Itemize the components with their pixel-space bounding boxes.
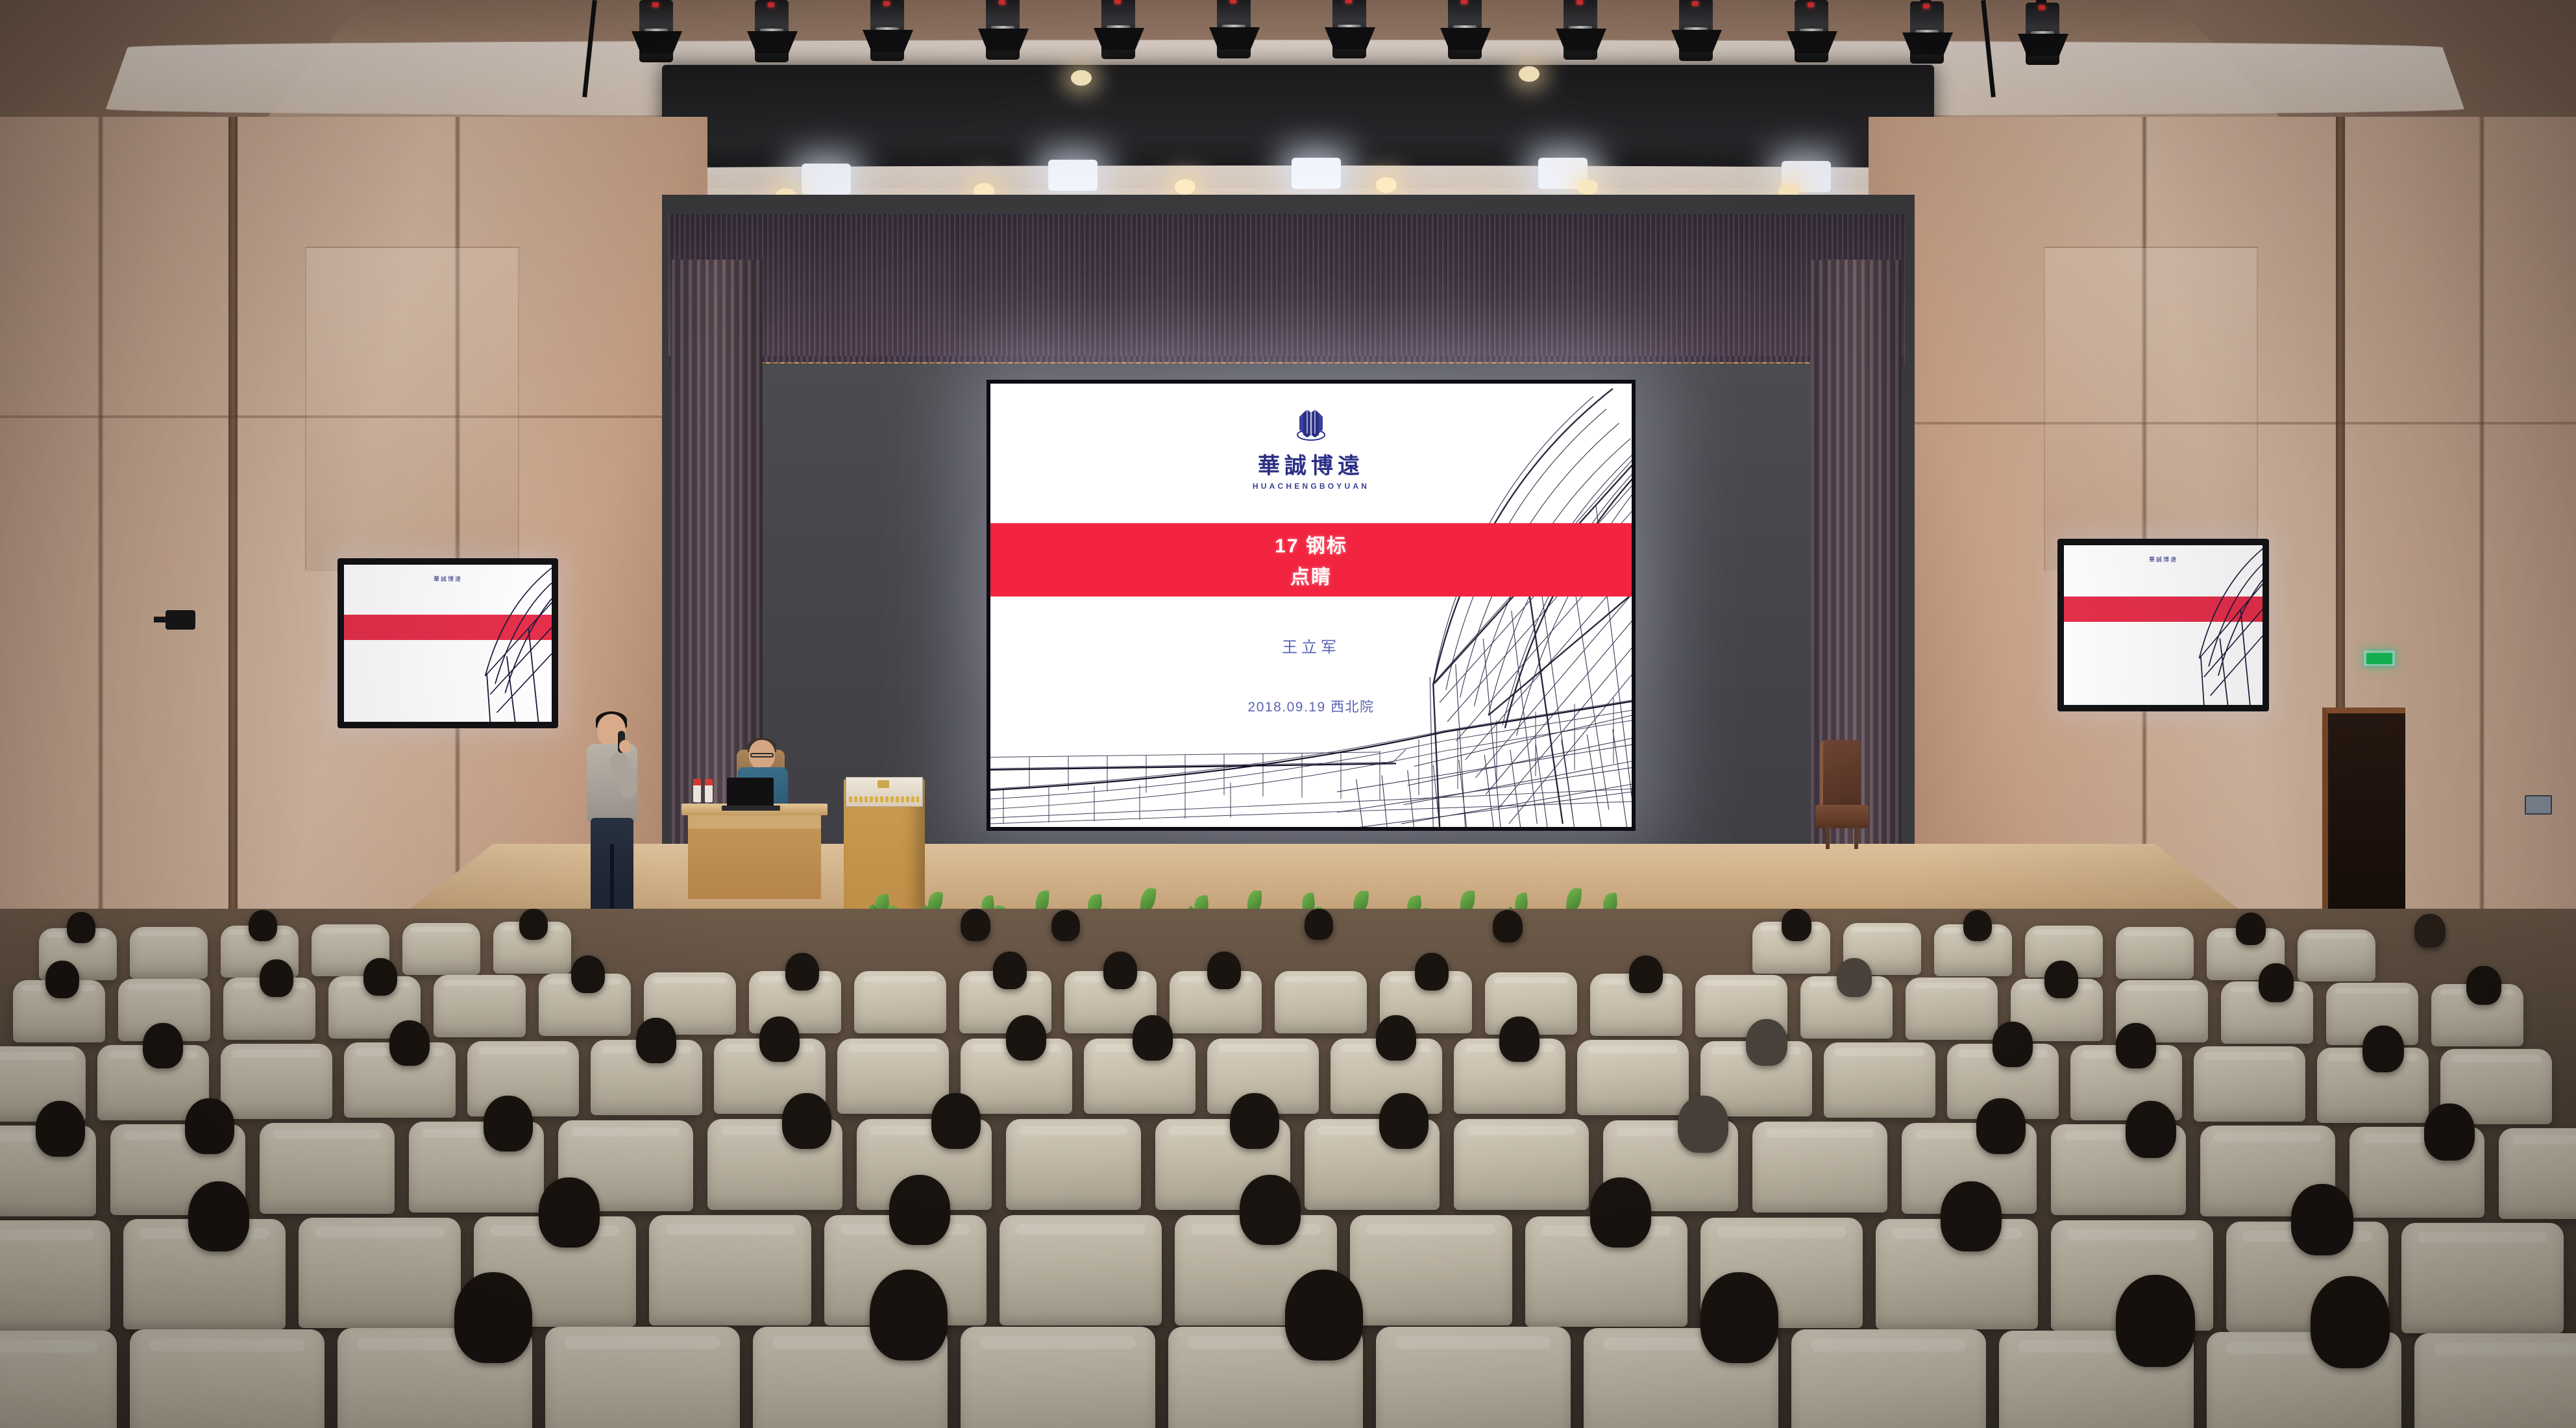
wall-mounted-camera [166,610,195,630]
stage-spotlight [1679,0,1713,61]
audience-head [993,952,1027,989]
stage-spotlight [870,0,904,61]
audience-head [1963,910,1992,941]
side-monitor-right[interactable]: 華誠博遠 [2057,539,2269,711]
spotlight-led-icon [768,3,774,7]
spotlight-lens [2031,31,2054,36]
audience-seat[interactable] [260,1123,395,1214]
glasses-icon [750,753,774,757]
slide-author: 王立军 [990,634,1632,657]
armchair-seat [1815,805,1869,828]
audience-head [636,1018,676,1063]
audience-head [2291,1184,2353,1255]
water-bottle[interactable] [705,779,713,802]
audience-head [2362,1026,2404,1072]
spotlight-lens [1453,25,1477,31]
stage-spotlight [1101,0,1135,59]
audience-head [2311,1276,2390,1368]
audience-head [539,1177,600,1248]
audience-head [1590,1177,1651,1248]
ceiling-downlight [1175,179,1196,195]
stage-spotlight [986,0,1020,60]
ceiling-downlight [1519,66,1539,82]
audience-head [45,961,79,998]
audience-head [2126,1101,2176,1158]
side-monitor-left[interactable]: 華誠博遠 [337,558,558,728]
ceiling-panel-light [1292,158,1341,189]
audience-seat[interactable] [1577,1040,1689,1115]
audience-head [2259,963,2294,1002]
laptop-base [722,806,780,811]
audience-head [889,1175,950,1245]
slide-date-venue: 2018.09.19 西北院 [990,696,1632,716]
audience-seat[interactable] [2298,929,2375,981]
audience-head [1499,1016,1539,1062]
stage-spotlight [1910,1,1944,64]
audience-head [1837,958,1872,997]
audience-head [571,955,605,993]
ceiling-panel-light [1048,160,1098,191]
audience-head [1782,909,1811,941]
audience-seat[interactable] [2116,927,2194,979]
ceiling-downlight [1376,177,1397,193]
audience-head [454,1272,532,1363]
spotlight-led-icon [883,1,890,6]
audience-seat[interactable] [1824,1042,1935,1118]
audience-seat[interactable] [221,1044,332,1119]
stage-spotlight [2026,3,2059,65]
audience-head [185,1098,234,1154]
audience-seat[interactable] [1906,978,1998,1040]
audience-head [931,1093,981,1149]
spotlight-lens [991,26,1014,31]
main-led-screen[interactable]: 華誠博遠 HUACHENGBOYUAN 17 钢标 点睛 王立军 2018.09… [987,380,1636,831]
audience-seat[interactable] [130,927,208,979]
audience-seat[interactable] [1454,1119,1589,1210]
wall-acoustic-panel [305,247,519,571]
auditorium-scene: 華誠博遠 HUACHENGBOYUAN 17 钢标 点睛 王立军 2018.09… [0,0,2576,1428]
audience-head [870,1270,948,1360]
slide-logo-block: 華誠博遠 HUACHENGBOYUAN [990,404,1632,491]
audience-head [1746,1019,1787,1066]
audience-seat[interactable] [0,1220,110,1331]
spotlight-led-icon [1345,0,1352,3]
spotlight-lens [876,27,899,32]
armchair-leg [1854,826,1858,849]
audience-seat[interactable] [434,975,526,1037]
audience-head [188,1181,249,1251]
room-placard [2525,795,2552,815]
audience-head [961,909,990,941]
audience-seat[interactable] [2194,1046,2305,1122]
audience-head [2116,1023,2156,1068]
audience-head [2414,914,2446,948]
audience-head [143,1023,183,1068]
slide-title-line1: 17 钢标 [1275,530,1347,558]
audience-seat[interactable] [1350,1215,1512,1325]
stage-spotlight [1217,0,1251,58]
spotlight-led-icon [1461,0,1467,4]
audience-head [1240,1175,1301,1245]
audience-head [1700,1272,1778,1363]
logo-chinese-name: 華誠博遠 [1258,448,1364,480]
audience-head [782,1093,831,1149]
stage-armchair[interactable] [1814,740,1871,847]
audience-head [36,1101,85,1157]
spotlight-lens [1569,26,1592,31]
ceiling-downlight [1577,179,1598,195]
audience-head [1285,1270,1363,1360]
stage-spotlight [1332,0,1366,58]
audience-seat[interactable] [299,1218,461,1328]
audience-head [1230,1093,1279,1149]
emergency-exit-sign [2362,649,2396,667]
side-monitor-right-art [2183,545,2263,705]
audience-head [2466,966,2501,1005]
audience-head [2044,961,2078,998]
spotlight-led-icon [999,0,1005,5]
spotlight-led-icon [2039,5,2045,10]
logo-pinyin-name: HUACHENGBOYUAN [1253,482,1369,491]
audience-seat[interactable] [1376,1327,1571,1428]
ceiling-downlight [1071,70,1092,86]
presentation-slide: 華誠博遠 HUACHENGBOYUAN 17 钢标 点睛 王立军 2018.09… [990,384,1632,827]
spotlight-led-icon [1576,0,1583,5]
audience-head [260,959,293,997]
audience-head [1305,909,1333,940]
armchair-back [1821,740,1861,813]
audience-seat[interactable] [2401,1223,2564,1333]
audience-head [2424,1103,2475,1161]
audience-head [249,910,277,941]
spotlight-lens [760,29,783,34]
spotlight-led-icon [1923,4,1930,8]
audience-head [1133,1015,1173,1061]
audience-seat[interactable] [961,1327,1155,1428]
audience-head [1629,955,1663,993]
side-monitor-right-screen: 華誠博遠 [2064,545,2263,705]
huachengboyuan-logo-mark [1290,404,1332,445]
laptop-screen[interactable] [727,778,774,807]
spotlight-led-icon [1692,1,1699,6]
audience-seat[interactable] [2499,1128,2576,1219]
audience-seat[interactable] [1791,1329,1986,1428]
wall-acoustic-panel [2044,247,2258,571]
side-monitor-left-art [469,565,552,722]
audience-head [67,912,95,943]
audience-seat[interactable] [837,1039,949,1114]
spotlight-led-icon [1114,0,1121,4]
audience-head [1051,910,1080,941]
podium-gold-lettering [849,796,919,802]
audience-head [1006,1015,1046,1061]
podium-emblem-icon [877,780,889,788]
audience-seat[interactable] [1000,1215,1162,1325]
spotlight-lens [1800,29,1823,34]
audience-seat[interactable] [1275,971,1367,1033]
audience-head [759,1016,800,1062]
spotlight-led-icon [1230,0,1236,3]
audience-head [389,1020,430,1066]
slide-title-band: 17 钢标 点睛 [990,523,1632,597]
water-bottle[interactable] [693,779,701,802]
armchair-leg [1826,826,1830,849]
audience-seat[interactable] [402,923,480,975]
audience-head [484,1096,533,1151]
audience-head [1678,1096,1728,1153]
stage-spotlight [1448,0,1482,59]
audience-seat[interactable] [545,1327,740,1428]
spotlight-lens [1222,25,1245,30]
stage-spotlight [755,0,789,62]
audience-head [519,909,548,940]
audience-seat[interactable] [2414,1333,2576,1428]
spotlight-lens [1338,25,1361,30]
exit-running-man-icon [2366,653,2392,664]
audience-area [0,909,2576,1428]
stage-curtain-valance [669,214,1905,380]
slide-title-line2: 点睛 [1290,561,1332,589]
side-monitor-left-screen: 華誠博遠 [344,565,552,722]
audience-seat[interactable] [130,1329,325,1428]
audience-seat[interactable] [0,1331,117,1428]
presenter-hand [619,740,631,753]
audience-head [1415,953,1449,991]
audience-head [2116,1275,2195,1367]
spotlight-lens [1684,27,1708,32]
spotlight-led-icon [1808,3,1814,7]
audience-head [1993,1022,2033,1067]
ceiling-panel-light [802,164,851,195]
spotlight-lens [1915,30,1939,35]
audience-head [785,953,819,991]
spotlight-led-icon [652,3,659,7]
stage-spotlight [639,0,673,62]
head-table-body [688,808,821,899]
audience-seat[interactable] [1006,1119,1141,1210]
stage-spotlight [1795,0,1828,62]
audience-head [1103,952,1137,989]
audience-head [1376,1015,1416,1061]
audience-head [1493,910,1523,942]
audience-head [1207,952,1241,989]
audience-head [363,958,397,996]
audience-head [1379,1093,1429,1149]
spotlight-lens [1107,25,1130,31]
audience-seat[interactable] [1752,1122,1887,1213]
stage-spotlight [1564,0,1597,60]
audience-head [1976,1098,2026,1154]
spotlight-lens [644,29,668,34]
audience-head [2236,913,2266,945]
audience-head [1941,1181,2002,1251]
audience-seat[interactable] [649,1215,811,1325]
audience-seat[interactable] [854,971,946,1033]
